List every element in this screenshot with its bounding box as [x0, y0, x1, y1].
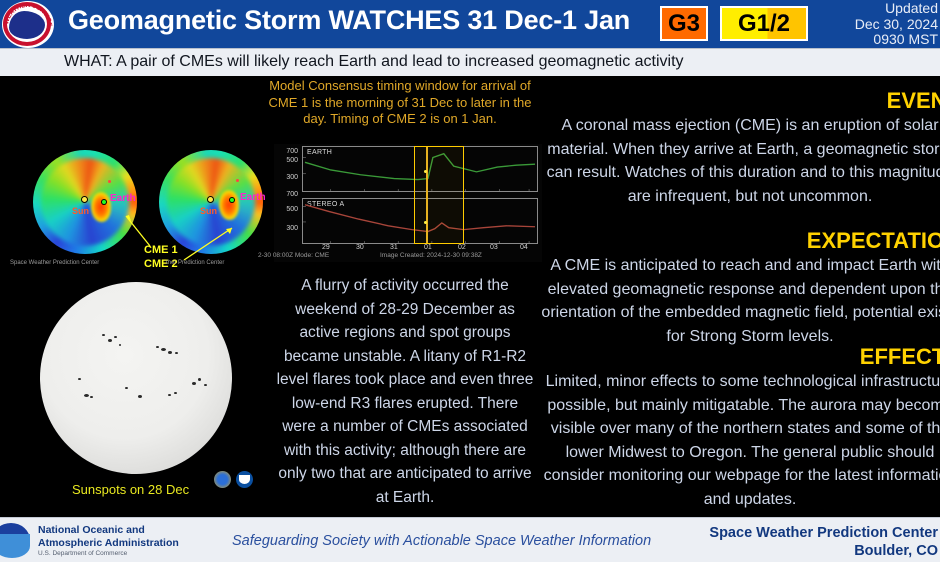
enlil-credit-left: Space Weather Prediction Center	[10, 260, 99, 266]
sun-marker-left	[81, 196, 88, 203]
footer-bar: National Oceanic and Atmospheric Adminis…	[0, 517, 940, 562]
infographic-page: WEATHER SERVICE Geomagnetic Storm WATCHE…	[0, 0, 940, 562]
swpc-logo-icon	[214, 471, 231, 488]
office-name: Space Weather Prediction Center	[709, 524, 938, 542]
earth-marker-right	[230, 198, 234, 202]
earth-label-right: Earth	[240, 192, 266, 203]
svg-text:WEATHER SERVICE: WEATHER SERVICE	[3, 2, 53, 27]
what-banner: WHAT: A pair of CMEs will likely reach E…	[0, 48, 940, 77]
department-label: U.S. Department of Commerce	[38, 550, 127, 557]
chart-xtick-03: 03	[490, 244, 498, 251]
noaa-seal-icon	[0, 522, 34, 558]
section-heading-event: EVENT	[540, 88, 940, 114]
enlil-credit-right: ther Prediction Center	[166, 260, 224, 266]
chart-ytick-earth-300: 300	[282, 174, 298, 181]
updated-label: Updated	[855, 1, 938, 17]
section-body-expectation: A CME is anticipated to reach and and im…	[540, 254, 940, 348]
spacecraft-marker-left	[108, 180, 111, 183]
cme1-arrival-line	[426, 147, 428, 243]
status-badge-g3: G3	[660, 6, 708, 41]
sun-label-right: Sun	[200, 206, 217, 216]
what-banner-text: WHAT: A pair of CMEs will likely reach E…	[64, 53, 684, 71]
chart-xtick-30: 30	[356, 244, 364, 251]
updated-date: Dec 30, 2024	[855, 17, 938, 33]
cme1-arrival-marker-earth	[424, 170, 427, 173]
section-body-event: A coronal mass ejection (CME) is an erup…	[540, 114, 940, 208]
nws-logo-icon: WEATHER SERVICE	[2, 1, 54, 48]
updated-time: 0930 MST	[855, 32, 938, 48]
chart-ytick-earth-700: 700	[282, 148, 298, 155]
chart-ytick-stereoa-300: 300	[282, 225, 298, 232]
chart-xtick-01: 01	[424, 244, 432, 251]
sunspot-caption: Sunspots on 28 Dec	[72, 482, 189, 497]
earth-marker-left	[102, 200, 106, 204]
enlil-panel-left: Sun Earth	[28, 148, 148, 254]
header-bar: WEATHER SERVICE Geomagnetic Storm WATCHE…	[0, 0, 940, 48]
sun-label-left: Sun	[72, 206, 89, 216]
sun-marker-right	[207, 196, 214, 203]
section-heading-expectation: EXPECTATION	[540, 228, 940, 254]
sunspot-image: Sunspots on 28 Dec	[2, 272, 268, 512]
chart-caption-left: 2-30 08:00Z Mode: CME	[258, 252, 329, 259]
chart-xtick-31: 31	[390, 244, 398, 251]
noaa-logo-icon	[236, 471, 253, 488]
timing-window-highlight	[414, 146, 464, 244]
chart-ytick-stereoa-700: 700	[282, 191, 298, 198]
updated-timestamp: Updated Dec 30, 2024 0930 MST	[855, 1, 938, 48]
agency-name-line1: National Oceanic and	[38, 524, 179, 537]
status-badge-g12: G1/2	[720, 6, 808, 41]
agency-name-line2: Atmospheric Administration	[38, 537, 179, 550]
page-title: Geomagnetic Storm WATCHES 31 Dec-1 Jan	[68, 5, 630, 36]
enlil-panel-right: Sun Earth	[154, 148, 274, 254]
chart-xtick-02: 02	[458, 244, 466, 251]
chart-xtick-04: 04	[520, 244, 528, 251]
solar-wind-timeline-chart: EARTH 700 500 300 STEREO A	[274, 144, 542, 262]
activity-summary-paragraph: A flurry of activity occurred the weeken…	[276, 274, 534, 509]
chart-ytick-earth-500: 500	[282, 157, 298, 164]
enlil-model-figure: Sun Earth Sun Earth CME	[2, 148, 268, 266]
agency-name: National Oceanic and Atmospheric Adminis…	[38, 524, 179, 549]
chart-ytick-stereoa-500: 500	[282, 206, 298, 213]
agency-mini-logos	[210, 468, 264, 490]
office-city: Boulder, CO	[709, 542, 938, 560]
section-body-effects: Limited, minor effects to some technolog…	[540, 370, 940, 511]
tagline: Safeguarding Society with Actionable Spa…	[232, 533, 651, 549]
office-address: Space Weather Prediction Center Boulder,…	[709, 524, 938, 560]
spacecraft-marker-right	[236, 179, 239, 182]
chart-caption-right: Image Created: 2024-12-30 09:38Z	[380, 252, 482, 259]
chart-xtick-29: 29	[322, 244, 330, 251]
cme1-arrival-marker-stereoa	[424, 221, 427, 224]
timing-note: Model Consensus timing window for arriva…	[258, 78, 542, 128]
earth-label-left: Earth	[110, 193, 136, 204]
cme1-label: CME 1	[144, 244, 178, 256]
section-heading-effects: EFFECTS	[540, 344, 940, 370]
content-area: Model Consensus timing window for arriva…	[0, 76, 940, 517]
solar-disk	[40, 282, 232, 474]
